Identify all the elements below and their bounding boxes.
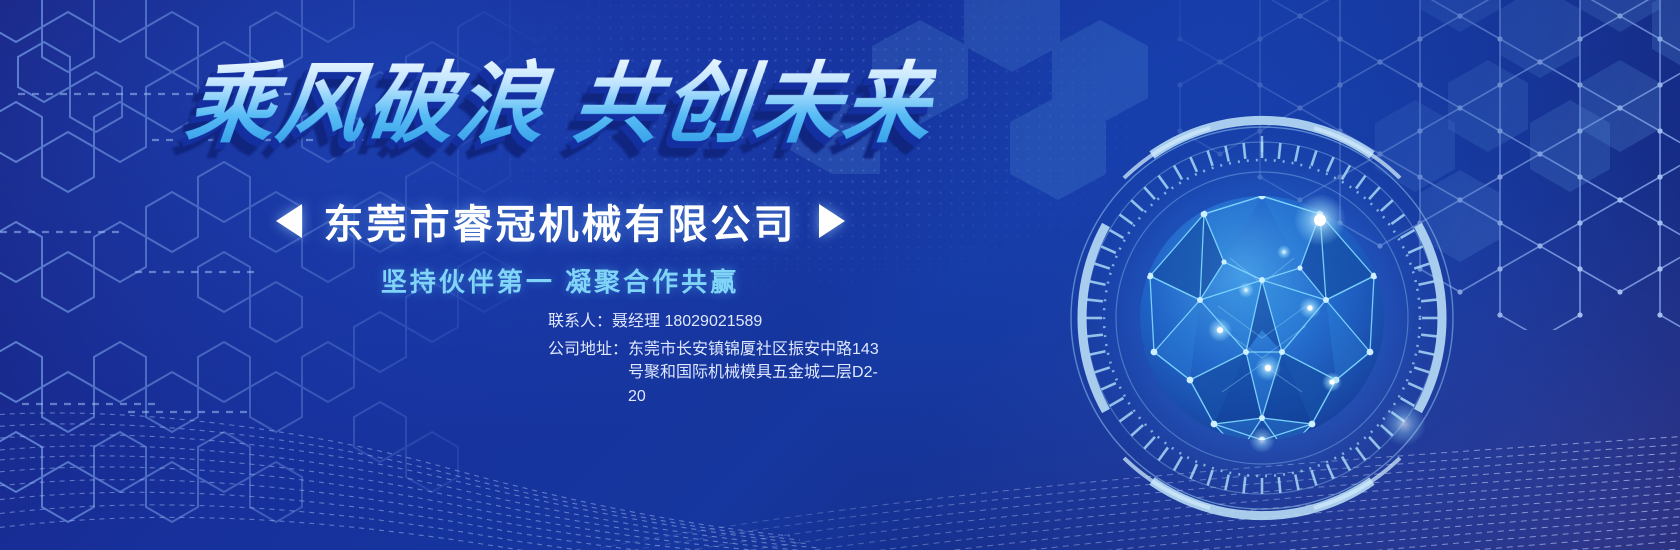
contact-block: 联系人：聂经理 18029021589 公司地址： 东莞市长安镇锦厦社区振安中路…	[548, 310, 888, 408]
company-name: 东莞市睿冠机械有限公司	[324, 192, 797, 250]
text-content: 乘风破浪 共创未来 东莞市睿冠机械有限公司 坚持伙伴第一 凝聚合作共赢 联系人：…	[0, 0, 1120, 550]
address-label: 公司地址：	[548, 338, 628, 361]
left-triangle-icon	[276, 204, 302, 238]
company-name-row: 东莞市睿冠机械有限公司	[0, 192, 1120, 250]
address-value: 东莞市长安镇锦厦社区振安中路143号聚和国际机械模具五金城二层D2-20	[628, 338, 888, 408]
main-title-wrapper: 乘风破浪 共创未来	[0, 58, 1120, 150]
company-address: 公司地址： 东莞市长安镇锦厦社区振安中路143号聚和国际机械模具五金城二层D2-…	[548, 338, 888, 408]
slogan: 坚持伙伴第一 凝聚合作共赢	[0, 262, 1120, 299]
promotional-banner: 乘风破浪 共创未来 东莞市睿冠机械有限公司 坚持伙伴第一 凝聚合作共赢 联系人：…	[0, 0, 1680, 550]
main-title: 乘风破浪 共创未来	[182, 58, 938, 150]
right-triangle-icon	[819, 204, 845, 238]
contact-person: 联系人：聂经理 18029021589	[548, 310, 888, 333]
